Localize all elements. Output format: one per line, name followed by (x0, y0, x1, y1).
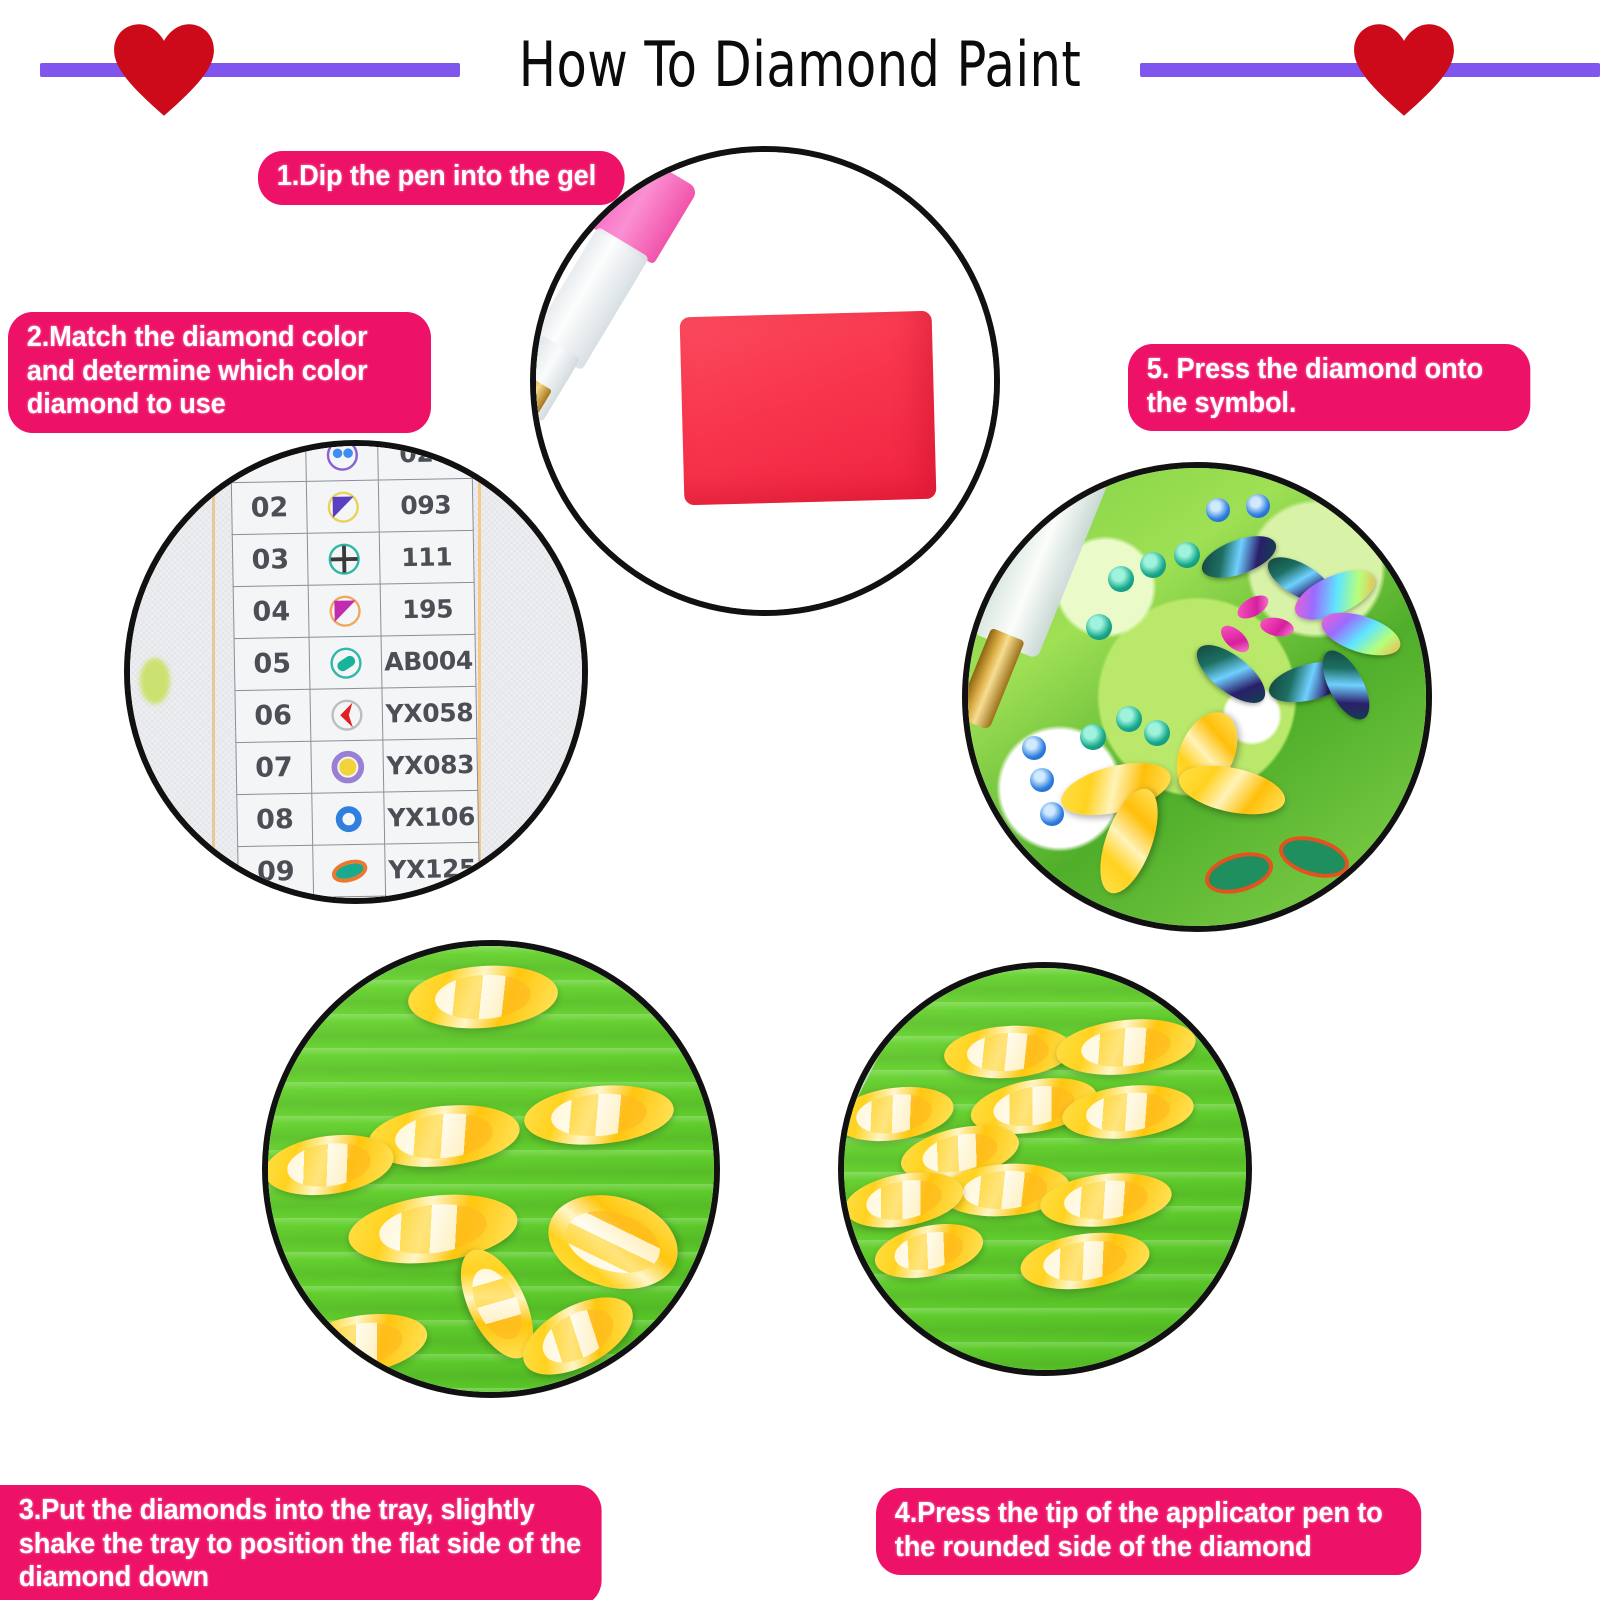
legend-row: 05AB004 (234, 634, 476, 690)
step-3-label: 3.Put the diamonds into the tray, slight… (0, 1485, 602, 1600)
legend-number: 05 (234, 637, 310, 690)
canvas-jewel (1197, 528, 1282, 587)
canvas-jewel (1108, 566, 1134, 592)
legend-number: 08 (237, 793, 313, 846)
canvas-jewel (1274, 829, 1354, 885)
legend-symbol-plus-icon (308, 532, 381, 585)
canvas-jewel (1206, 498, 1230, 522)
legend-symbol-ring-icon (312, 792, 385, 845)
infographic-page: How To Diamond Paint 1.Dip the pen into … (0, 0, 1600, 1600)
legend-row: 028 (230, 440, 472, 483)
canvas-jewel (1200, 845, 1278, 901)
legend-symbol-filled-dot-icon (311, 740, 384, 793)
legend-code: YX125 (385, 842, 480, 896)
legend-code: 195 (380, 582, 475, 636)
legend-row: 07YX083 (236, 738, 478, 794)
canvas-jewel (1040, 802, 1064, 826)
legend-row: 02093 (231, 478, 473, 534)
legend-row: 09YX125 (238, 842, 480, 898)
step-4-label: 4.Press the tip of the applicator pen to… (876, 1488, 1421, 1575)
legend-code: YX058 (382, 686, 477, 740)
legend-symbol-leaf-icon (313, 844, 386, 897)
step-4-photo (838, 962, 1252, 1376)
legend-number: 04 (233, 585, 309, 638)
legend-symbol-triangle-icon (309, 584, 382, 637)
legend-symbol-capsule-icon (309, 636, 382, 689)
step-1-photo (530, 146, 1000, 616)
step-5-label: 5. Press the diamond onto the symbol. (1128, 344, 1530, 431)
legend-code: 093 (378, 478, 473, 532)
canvas-jewel (1174, 542, 1200, 568)
legend-number: 06 (235, 689, 311, 742)
legend-row: 08YX106 (237, 790, 479, 846)
canvas-jewel (1086, 614, 1112, 640)
canvas-jewel (1022, 736, 1046, 760)
legend-row: 04195 (233, 582, 475, 638)
legend-row: 06YX058 (235, 686, 477, 742)
canvas-jewel (1246, 494, 1270, 518)
gel-pad (680, 311, 937, 506)
legend-code: YX106 (384, 790, 479, 844)
step-2-photo: 02802093031110419505AB00406YX05807YX0830… (124, 440, 588, 904)
legend-number: 02 (231, 481, 307, 534)
legend-code: 111 (379, 530, 474, 584)
canvas-jewel (1030, 768, 1054, 792)
legend-row: 03111 (232, 530, 474, 586)
step-2-label: 2.Match the diamond color and determine … (8, 312, 431, 433)
legend-code: YX083 (383, 738, 478, 792)
step-3-photo (262, 940, 720, 1398)
legend-number (230, 440, 306, 483)
applicator-pen (530, 151, 699, 438)
legend-symbol-double-dot-circle-icon (306, 440, 379, 481)
canvas-jewel (1175, 757, 1290, 822)
legend-number: 07 (236, 741, 312, 794)
step-5-photo (962, 462, 1432, 932)
symbol-legend-table: 02802093031110419505AB00406YX05807YX0830… (230, 440, 480, 899)
canvas-jewel (1080, 724, 1106, 750)
legend-code: 028 (377, 440, 472, 480)
legend-code: AB004 (381, 634, 476, 688)
canvas-jewel (1144, 720, 1170, 746)
canvas-jewel (1116, 706, 1142, 732)
page-title: How To Diamond Paint (160, 28, 1440, 101)
canvas-jewel (1259, 615, 1296, 639)
legend-symbol-triangle-icon (307, 480, 380, 533)
legend-number: 09 (238, 845, 314, 898)
applicator-pen (962, 462, 1127, 764)
canvas-jewel (1140, 552, 1166, 578)
legend-number: 03 (232, 533, 308, 586)
legend-symbol-chevron-left-icon (310, 688, 383, 741)
